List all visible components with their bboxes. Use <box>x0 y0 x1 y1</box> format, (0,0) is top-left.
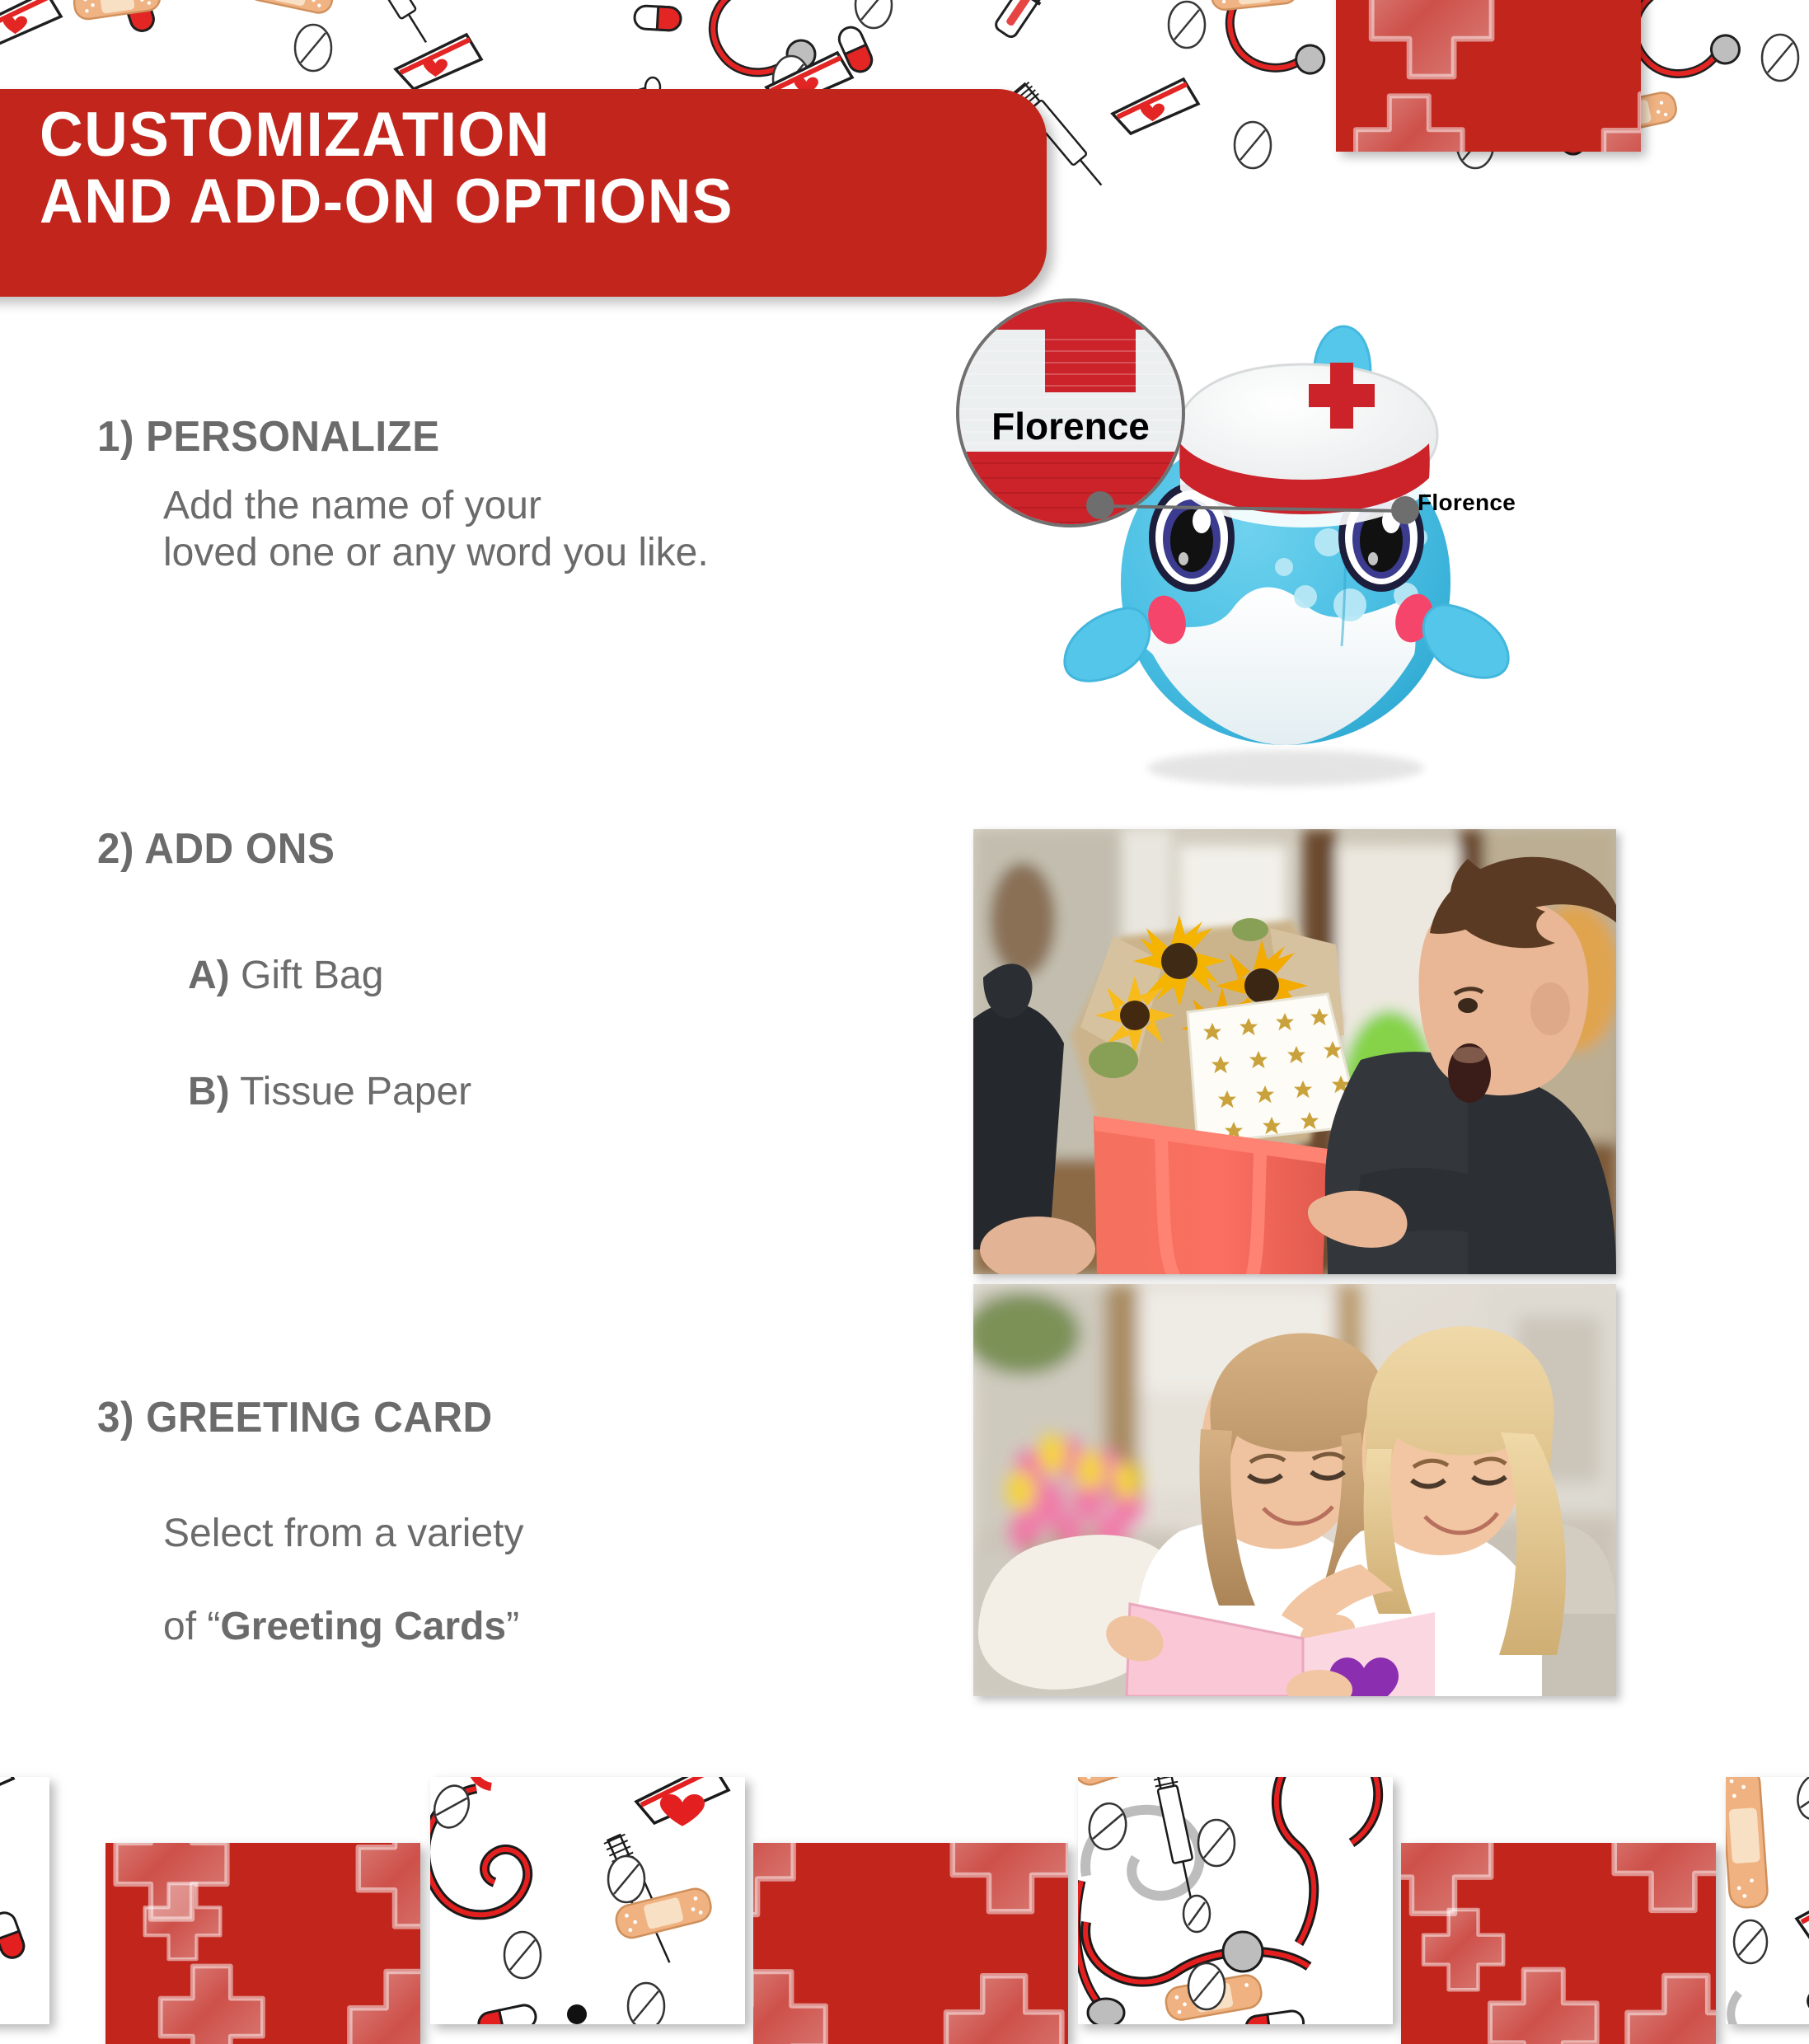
medical-doodle-tile <box>0 1777 49 2024</box>
section-1-heading: 1) PERSONALIZE <box>97 412 678 462</box>
cross-pattern <box>105 1843 420 2044</box>
bottom-doodle-tile-2 <box>430 1777 745 2024</box>
section-3-heading: 3) GREETING CARD <box>97 1393 503 1442</box>
callout-anchor-dot-left <box>1086 491 1114 519</box>
medical-doodle-tile <box>1726 1777 1809 2024</box>
page-title: CUSTOMIZATION AND ADD-ON OPTIONS <box>40 102 733 235</box>
add-on-item-gift-bag[interactable]: A) Gift Bag <box>188 953 471 998</box>
callout-name-label: Florence <box>991 404 1150 448</box>
bottom-doodle-tile-4 <box>1726 1777 1809 2024</box>
add-on-item-tissue-paper-marker: B) <box>188 1070 230 1113</box>
section-3-body-suffix: ” <box>506 1605 519 1648</box>
section-3-body-prefix: of “ <box>163 1605 220 1648</box>
add-on-item-gift-bag-marker: A) <box>188 954 230 997</box>
red-cross-tile-top-right <box>1336 0 1641 152</box>
add-on-item-gift-bag-label: Gift Bag <box>230 954 384 997</box>
bottom-cross-tile-2 <box>753 1843 1068 2044</box>
bottom-doodle-tile-1 <box>0 1777 49 2024</box>
medical-doodle-tile <box>1078 1777 1393 2024</box>
add-on-item-tissue-paper[interactable]: B) Tissue Paper <box>188 1069 471 1114</box>
zoom-callout-circle: Florence <box>956 298 1185 527</box>
bottom-cross-tile-1 <box>105 1843 420 2044</box>
greeting-card-photo-image <box>973 1284 1616 1696</box>
section-1-body: Add the name of your loved one or any wo… <box>163 483 709 576</box>
cross-pattern <box>753 1843 1068 2044</box>
section-add-ons: 2) ADD ONS A) Gift Bag B) Tissue Paper <box>97 824 471 1114</box>
cross-pattern <box>1336 0 1641 152</box>
add-on-item-tissue-paper-label: Tissue Paper <box>230 1070 471 1113</box>
section-3-body: Select from a variety of “Greeting Cards… <box>163 1464 523 1651</box>
cross-pattern <box>1401 1843 1716 2044</box>
gift-bag-photo <box>973 829 1616 1274</box>
section-3-body-line1: Select from a variety <box>163 1512 523 1555</box>
section-2-heading: 2) ADD ONS <box>97 824 452 874</box>
section-greeting-card: 3) GREETING CARD Select from a variety o… <box>97 1393 523 1651</box>
section-3-body-emphasis: Greeting Cards <box>220 1605 506 1648</box>
greeting-card-photo <box>973 1284 1616 1696</box>
plush-toy-illustration: Florence Florence <box>956 290 1632 801</box>
bottom-doodle-tile-3 <box>1078 1777 1393 2024</box>
page-title-banner: CUSTOMIZATION AND ADD-ON OPTIONS <box>0 89 1047 297</box>
bottom-cross-tile-3 <box>1401 1843 1716 2044</box>
hat-embroidered-name: Florence <box>1418 490 1516 516</box>
gift-bag-photo-image <box>973 829 1616 1274</box>
medical-doodle-tile <box>430 1777 745 2024</box>
callout-anchor-dot-right <box>1391 496 1419 524</box>
section-personalize: 1) PERSONALIZE Add the name of your love… <box>97 412 709 576</box>
